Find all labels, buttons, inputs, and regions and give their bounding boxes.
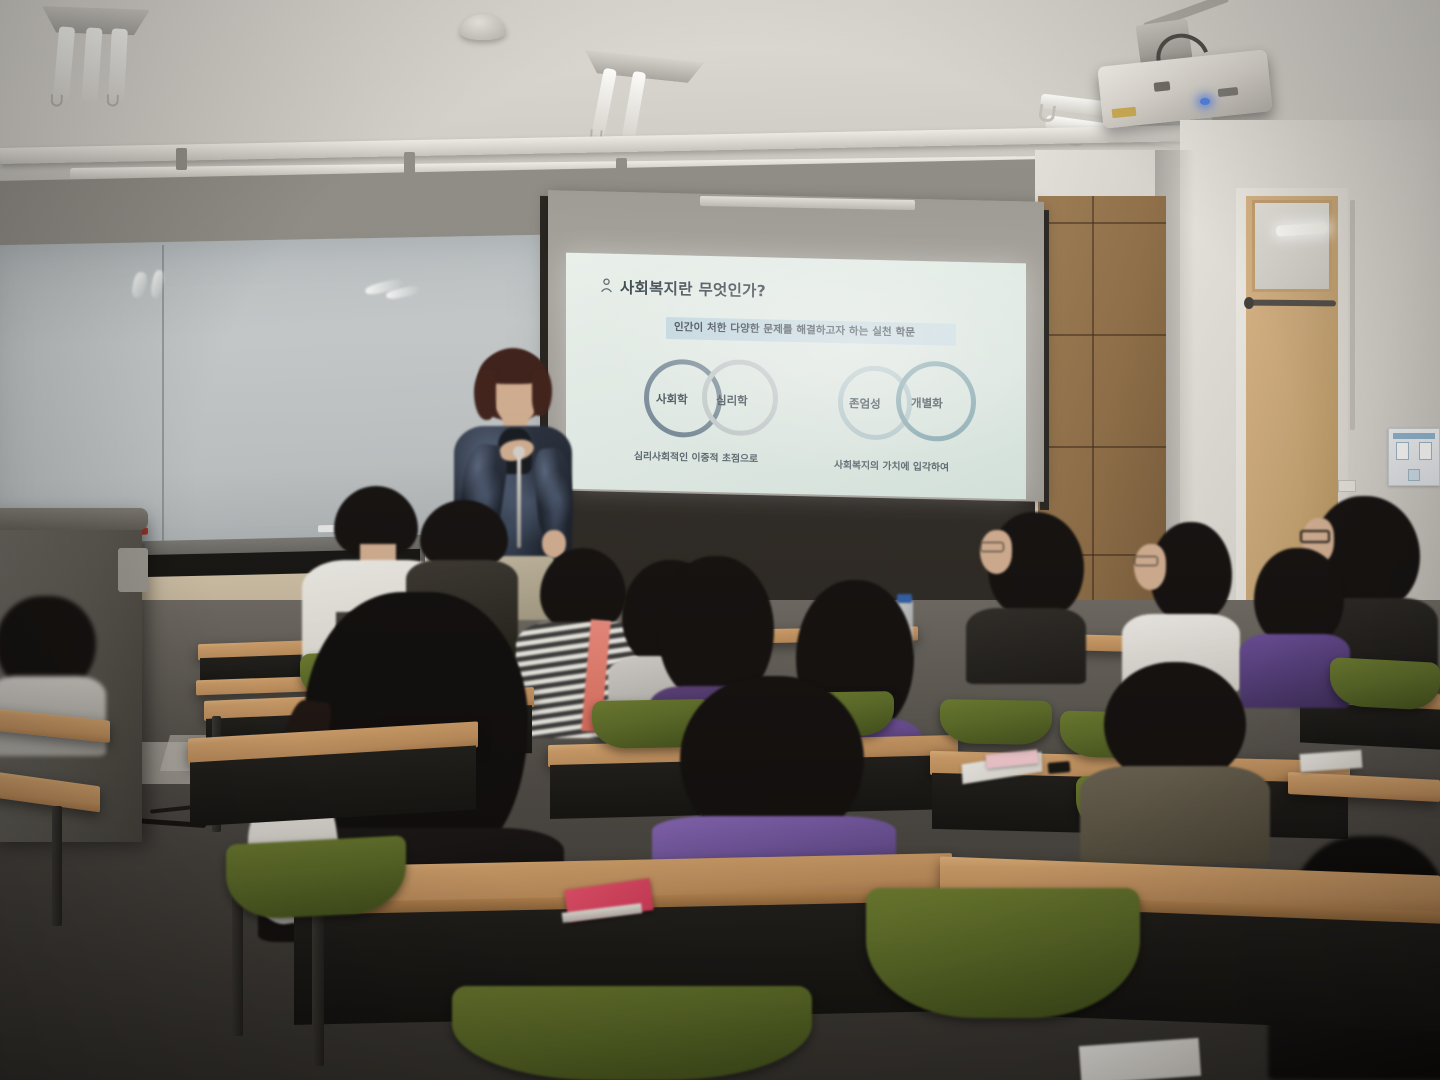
rail-hook: [176, 148, 187, 170]
projected-slide: 사회복지란 무엇인가? 인간이 처한 다양한 문제를 해결하고자 하는 실천 학…: [566, 253, 1026, 500]
sign-header-band: [1393, 433, 1435, 439]
chair: [940, 699, 1052, 745]
ring-label-존엄성: 존엄성: [849, 395, 881, 412]
student-face: [980, 530, 1012, 574]
rail-hook: [404, 152, 415, 174]
ring-label-개별화: 개별화: [911, 395, 943, 412]
wall-conduit: [1350, 200, 1355, 430]
student-hair: [1104, 662, 1246, 778]
wall-outlet: [1338, 480, 1356, 492]
chair: [452, 986, 812, 1080]
slide-caption-left: 심리사회적인 이중적 초점으로: [634, 448, 758, 465]
desk-leg: [232, 886, 243, 1036]
desk-modesty-panel: [1300, 702, 1440, 749]
presenter-hair-side: [474, 370, 496, 420]
slide-caption-right: 사회복지의 가치에 입각하여: [834, 457, 949, 474]
eyeglasses-icon: [1134, 556, 1158, 566]
student-hair: [0, 596, 96, 688]
ring-label-사회학: 사회학: [656, 391, 688, 408]
sign-pictogram: [1419, 442, 1432, 460]
microphone-head: [513, 446, 525, 458]
smartphone[interactable]: [1048, 761, 1071, 774]
handout-paper: [1079, 1038, 1201, 1080]
wall-notice-sign: [1388, 428, 1440, 486]
whiteboard-seam: [162, 245, 164, 563]
student: [646, 676, 902, 876]
student-shirt: [966, 608, 1086, 684]
desk-leg: [52, 806, 62, 926]
student-hair: [1254, 548, 1344, 644]
door-transom-window: [1252, 200, 1332, 292]
sign-pictogram: [1396, 442, 1409, 460]
lectern-top: [0, 508, 148, 530]
student: [1078, 662, 1270, 862]
door-push-bar[interactable]: [1248, 300, 1336, 307]
desk-leg: [312, 906, 324, 1066]
presenter-hair-side: [532, 370, 552, 416]
slide-title: 사회복지란 무엇인가?: [620, 276, 766, 301]
projector-indicator-led: [1200, 98, 1210, 105]
sign-footer-pictogram: [1408, 469, 1420, 481]
eyeglasses-icon: [980, 542, 1004, 552]
student-hair: [420, 500, 508, 568]
door-handle[interactable]: [1244, 297, 1254, 309]
eyeglasses-icon: [1300, 530, 1330, 543]
ring-label-심리학: 심리학: [716, 392, 748, 409]
chair: [866, 888, 1140, 1018]
classroom-photo: 사회복지란 무엇인가? 인간이 처한 다양한 문제를 해결하고자 하는 실천 학…: [0, 0, 1440, 1080]
student-hair: [680, 676, 864, 836]
person-silhouette-icon: [600, 278, 613, 292]
student-shirt: [1080, 766, 1270, 864]
lectern-side-bracket: [118, 548, 148, 592]
student: [962, 512, 1088, 682]
student-face: [1134, 544, 1166, 590]
